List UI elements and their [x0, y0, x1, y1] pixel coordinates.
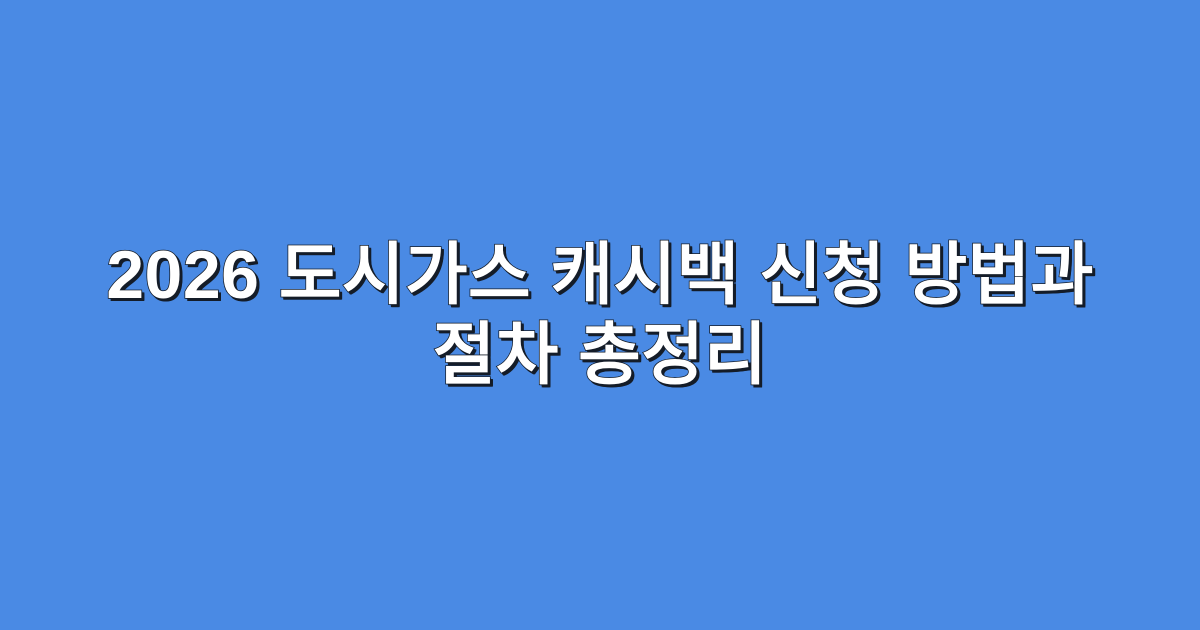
page-title: 2026 도시가스 캐시백 신청 방법과 절차 총정리 [80, 235, 1120, 395]
headline-container: 2026 도시가스 캐시백 신청 방법과 절차 총정리 [70, 235, 1130, 395]
thumbnail-card: 2026 도시가스 캐시백 신청 방법과 절차 총정리 [0, 0, 1200, 630]
